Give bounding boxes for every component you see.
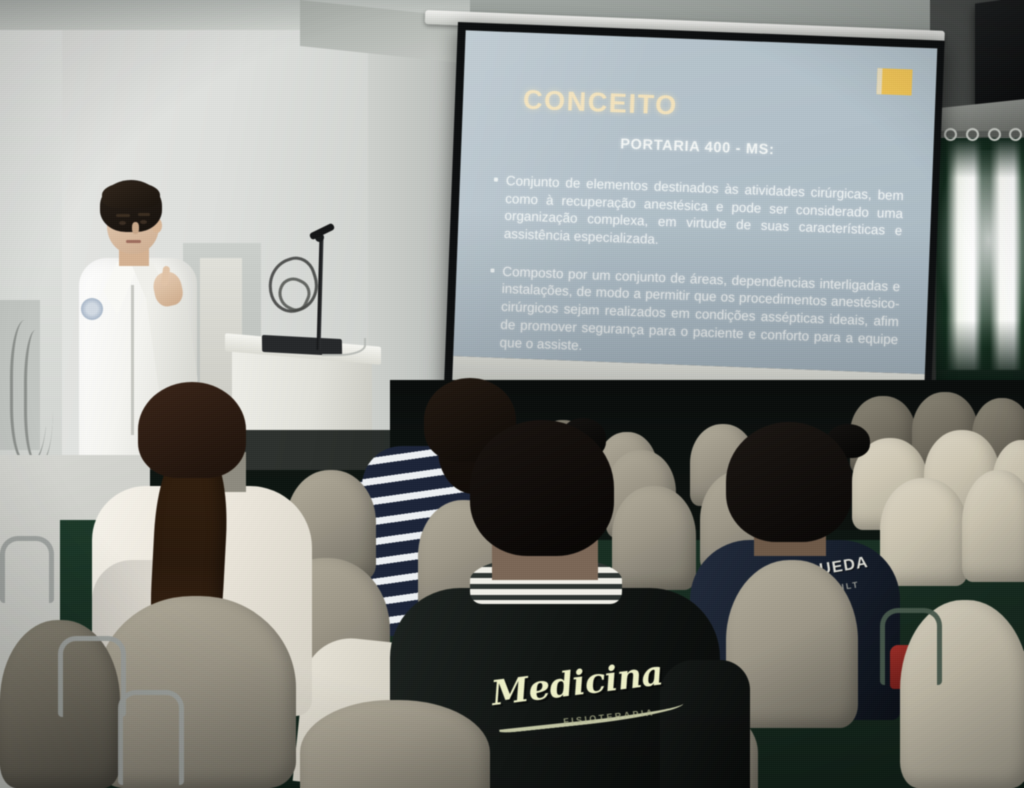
- auditorium-seat: [962, 470, 1024, 582]
- slide-subtitle: PORTARIA 400 - MS:: [461, 130, 933, 164]
- slide-corner-mark-icon: [877, 68, 913, 95]
- presenter-eyebrow: [116, 214, 130, 217]
- student-hair: [138, 382, 246, 478]
- wall-cable-secondary: [24, 330, 53, 463]
- seat-back: [962, 470, 1024, 582]
- slide-bullet: Conjunto de elementos destinados às ativ…: [492, 172, 904, 258]
- slide-bullet-list: Conjunto de elementos destinados às ativ…: [487, 172, 904, 375]
- presenter-eyebrow: [138, 213, 150, 216]
- auditorium-seat-foreground: [300, 700, 490, 788]
- seat-armrest: [0, 536, 54, 603]
- projection-screen: CONCEITO PORTARIA 400 - MS: Conjunto de …: [444, 22, 945, 410]
- presenter-coat-placket: [131, 285, 134, 435]
- student-hair: [726, 422, 852, 542]
- presenter-nose: [132, 222, 139, 234]
- lecture-hall-photo: CONCEITO PORTARIA 400 - MS: Conjunto de …: [0, 0, 1024, 788]
- curtain-ring: [944, 128, 957, 141]
- auditorium-seat: [880, 478, 968, 586]
- presenter-eye: [140, 220, 147, 224]
- seat-armrest: [880, 608, 942, 685]
- slide-bullet: Composto por um conjunto de áreas, depen…: [487, 262, 900, 366]
- auditorium-seat: [612, 486, 696, 590]
- student-hair: [470, 420, 614, 556]
- presenter-mouth: [126, 240, 141, 243]
- slide-title: CONCEITO: [522, 85, 678, 122]
- presenter-eye: [119, 221, 126, 225]
- seat-back: [612, 486, 696, 590]
- slide-surface: CONCEITO PORTARIA 400 - MS: Conjunto de …: [453, 30, 937, 374]
- presenter-coat-emblem-icon: [81, 298, 103, 320]
- curtain-ring: [988, 128, 1001, 141]
- curtain-top-shading: [936, 138, 1024, 178]
- seat-back: [300, 700, 490, 788]
- seat-armrest: [58, 636, 126, 717]
- curtain-ring: [1009, 128, 1022, 141]
- curtain-bottom-shading: [936, 320, 1024, 380]
- seat-armrest: [118, 690, 184, 785]
- presenter-hair-front: [102, 182, 160, 208]
- curtain-ring: [966, 128, 979, 141]
- seat-back: [880, 478, 968, 586]
